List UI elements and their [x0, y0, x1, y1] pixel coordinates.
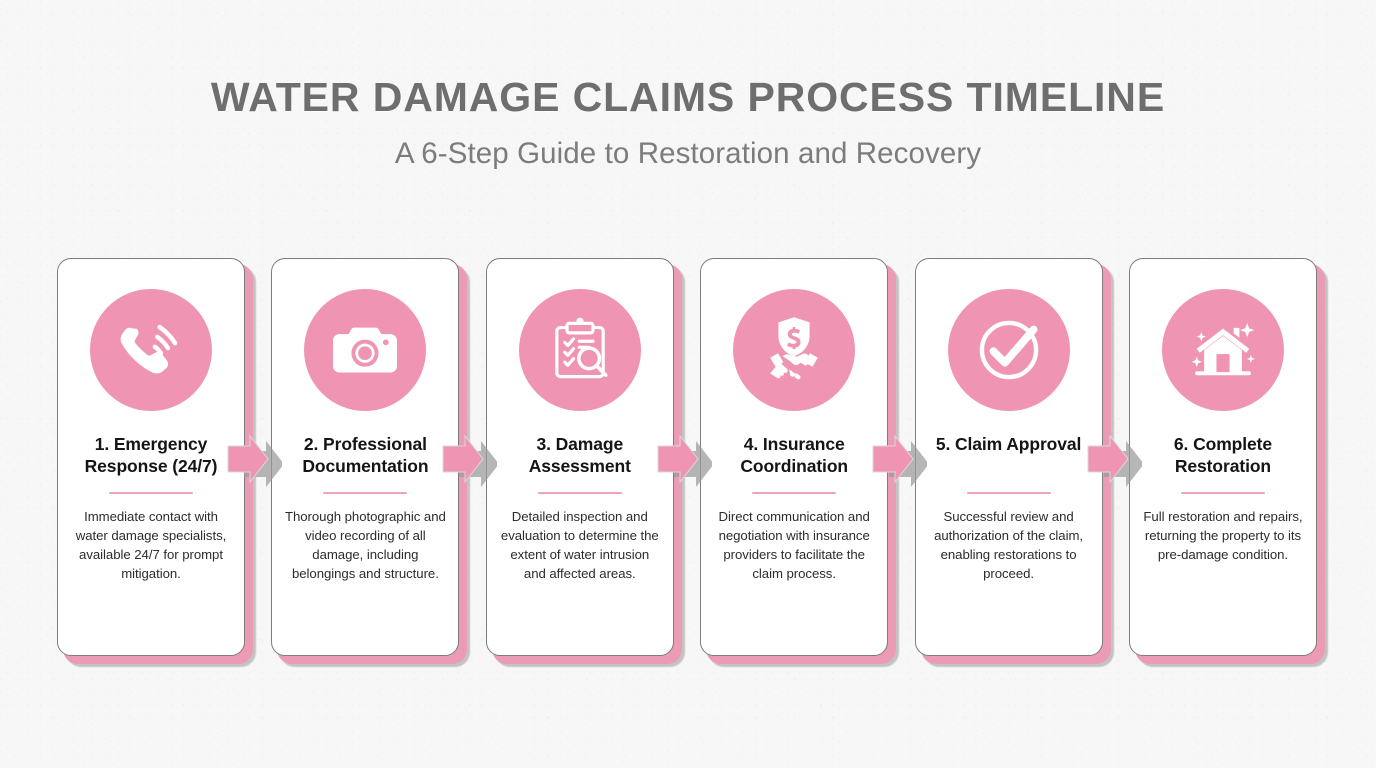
step-description: Thorough photographic and video recordin… [283, 507, 447, 583]
title-divider [752, 492, 836, 494]
title-divider [1181, 492, 1265, 494]
arrow-step-2-to-3 [441, 428, 497, 490]
title-divider [323, 492, 407, 494]
step-description: Successful review and authorization of t… [927, 507, 1091, 583]
step-description: Detailed inspection and evaluation to de… [498, 507, 662, 583]
page-title: WATER DAMAGE CLAIMS PROCESS TIMELINE [0, 0, 1376, 119]
infographic-canvas: WATER DAMAGE CLAIMS PROCESS TIMELINE A 6… [0, 0, 1376, 768]
step-title: 1. Emergency Response (24/7) [69, 411, 233, 479]
step-title: 5. Claim Approval [936, 411, 1081, 479]
timeline-step-card-6[interactable]: 6. Complete RestorationFull restoration … [1129, 258, 1319, 658]
step-description: Direct communication and negotiation wit… [712, 507, 876, 583]
title-divider [538, 492, 622, 494]
card-face: 3. Damage AssessmentDetailed inspection … [486, 258, 674, 656]
card-face: 6. Complete RestorationFull restoration … [1129, 258, 1317, 656]
check-circle-icon [948, 289, 1070, 411]
handshake-shield-dollar-icon [733, 289, 855, 411]
card-face: 2. Professional DocumentationThorough ph… [271, 258, 459, 656]
timeline-step-card-3[interactable]: 3. Damage AssessmentDetailed inspection … [486, 258, 676, 658]
phone-ringing-icon [90, 289, 212, 411]
timeline-step-card-2[interactable]: 2. Professional DocumentationThorough ph… [271, 258, 461, 658]
step-title: 6. Complete Restoration [1141, 411, 1305, 479]
step-description: Immediate contact with water damage spec… [69, 507, 233, 583]
arrow-step-4-to-5 [871, 428, 927, 490]
arrow-step-1-to-2 [226, 428, 282, 490]
arrow-step-5-to-6 [1086, 428, 1142, 490]
arrow-step-3-to-4 [656, 428, 712, 490]
title-divider [967, 492, 1051, 494]
header: WATER DAMAGE CLAIMS PROCESS TIMELINE A 6… [0, 0, 1376, 170]
sparkle-house-icon [1162, 289, 1284, 411]
step-title: 3. Damage Assessment [498, 411, 662, 479]
timeline-step-card-1[interactable]: 1. Emergency Response (24/7)Immediate co… [57, 258, 247, 658]
timeline-step-card-4[interactable]: 4. Insurance CoordinationDirect communic… [700, 258, 890, 658]
timeline-step-card-5[interactable]: 5. Claim ApprovalSuccessful review and a… [915, 258, 1105, 658]
step-title: 4. Insurance Coordination [712, 411, 876, 479]
card-face: 5. Claim ApprovalSuccessful review and a… [915, 258, 1103, 656]
title-divider [109, 492, 193, 494]
page-subtitle: A 6-Step Guide to Restoration and Recove… [0, 119, 1376, 170]
camera-icon [304, 289, 426, 411]
step-description: Full restoration and repairs, returning … [1141, 507, 1305, 564]
clipboard-magnifier-icon [519, 289, 641, 411]
card-face: 4. Insurance CoordinationDirect communic… [700, 258, 888, 656]
step-title: 2. Professional Documentation [283, 411, 447, 479]
card-face: 1. Emergency Response (24/7)Immediate co… [57, 258, 245, 656]
